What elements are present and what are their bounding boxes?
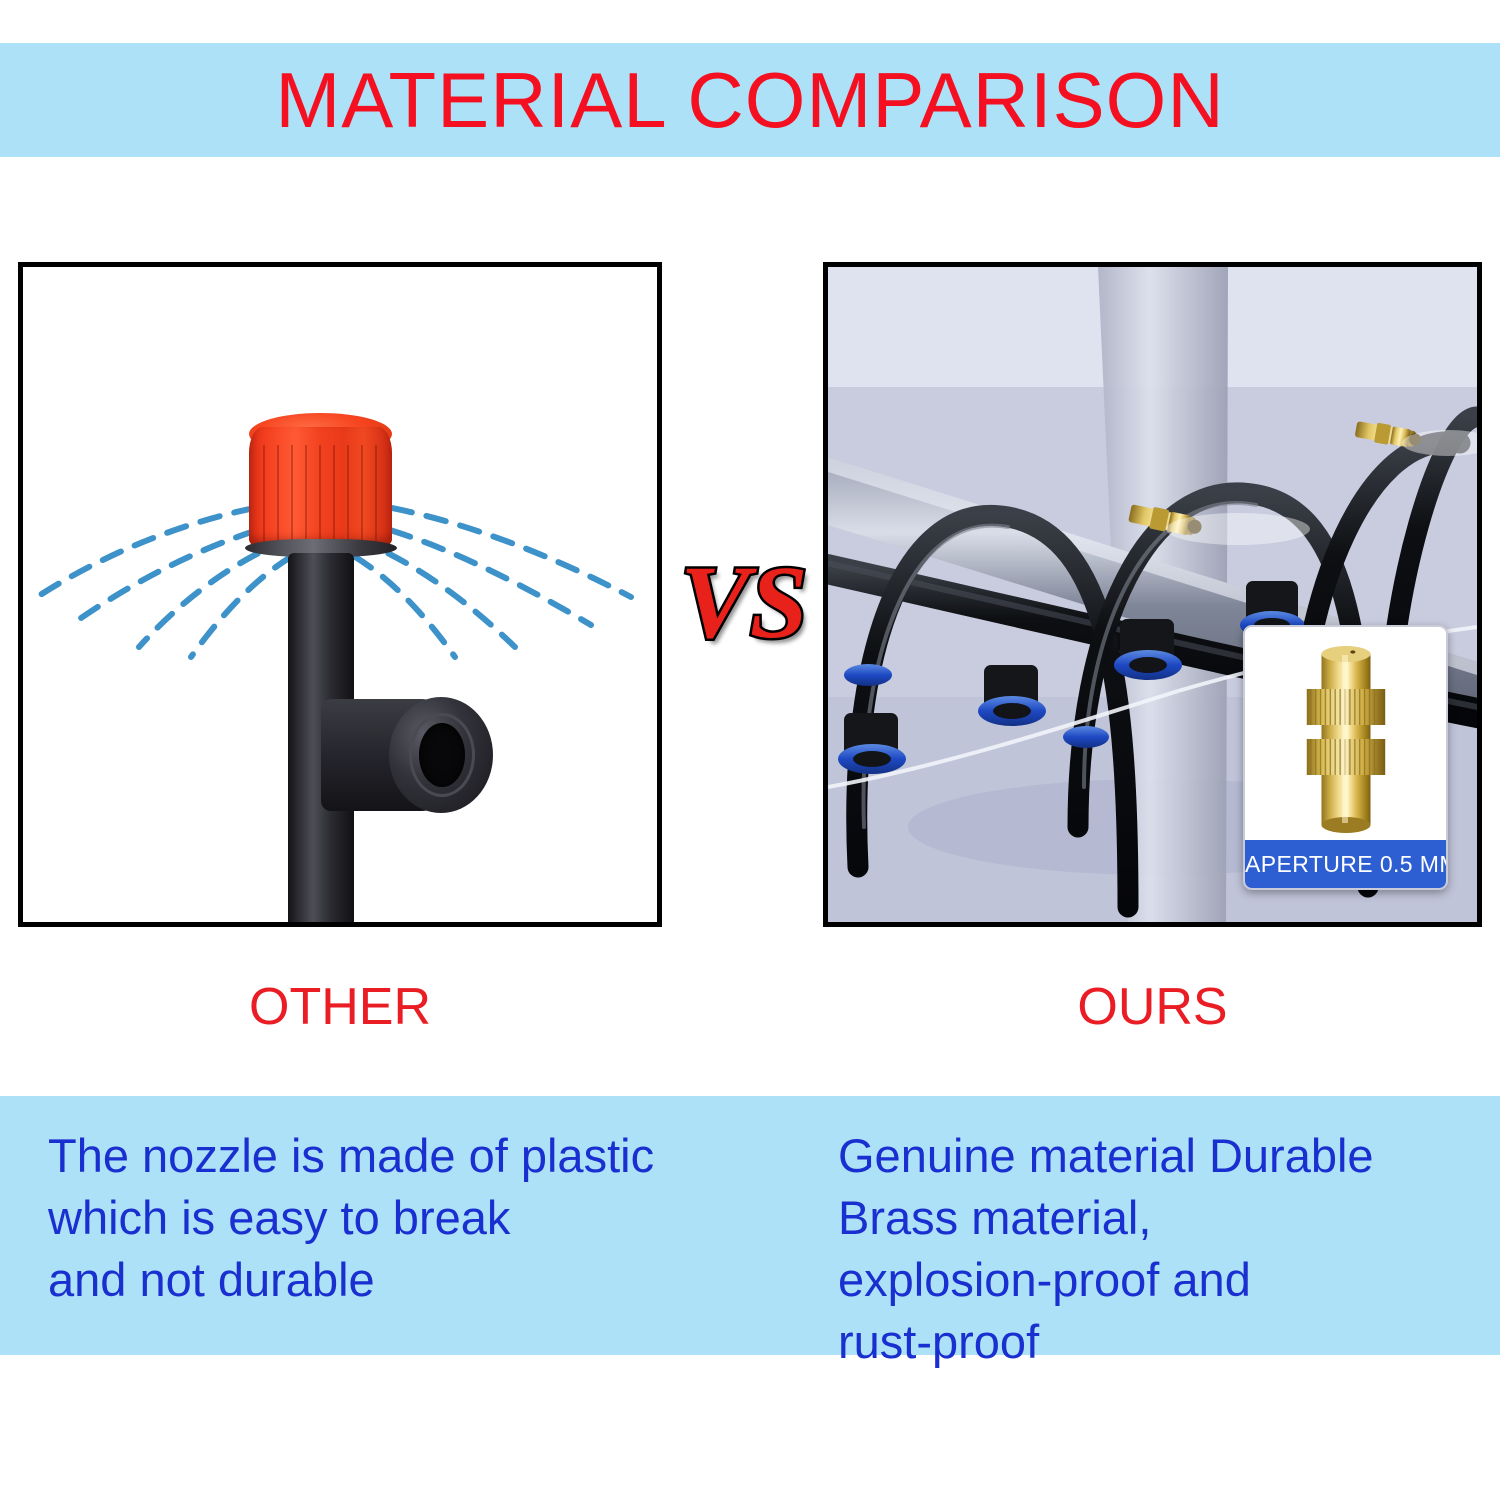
other-description: The nozzle is made of plastic which is e…	[48, 1125, 768, 1311]
aperture-label: APERTURE 0.5 MM	[1245, 840, 1446, 888]
other-caption: OTHER	[18, 972, 662, 1042]
cap-rib	[361, 445, 363, 543]
cap-rib	[291, 445, 293, 543]
brass-nozzle-inset-card: APERTURE 0.5 MM	[1243, 625, 1448, 890]
material-comparison-infographic: MATERIAL COMPARISON	[0, 0, 1500, 1500]
our-product-panel: APERTURE 0.5 MM	[823, 262, 1482, 927]
cap-rib	[305, 445, 307, 543]
our-product-image: APERTURE 0.5 MM	[828, 267, 1477, 922]
cap-rib	[333, 445, 335, 543]
ours-description: Genuine material Durable Brass material,…	[838, 1125, 1478, 1373]
nozzle-socket-hole	[419, 723, 465, 787]
brass-nozzle-closeup-image	[1245, 627, 1446, 842]
ours-caption: OURS	[823, 972, 1482, 1042]
cap-rib	[277, 445, 279, 543]
cap-rib	[319, 445, 321, 543]
cap-rib	[347, 445, 349, 543]
vs-badge: VS	[664, 548, 824, 658]
cap-rib	[263, 445, 265, 543]
cap-rib	[375, 445, 377, 543]
other-product-image	[23, 267, 657, 922]
brass-nozzle-icon	[1245, 627, 1446, 842]
other-product-panel	[18, 262, 662, 927]
page-title: MATERIAL COMPARISON	[0, 50, 1500, 150]
